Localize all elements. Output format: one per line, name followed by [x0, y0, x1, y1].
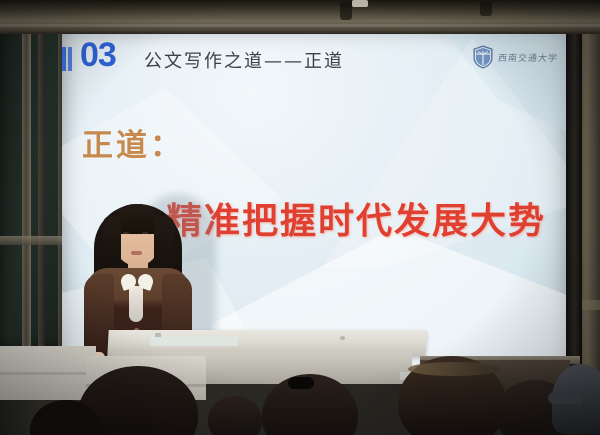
slide-header: 03 公文写作之道——正道 西南交通大学	[62, 28, 568, 88]
chalkboard-frame-left	[22, 16, 31, 352]
presenter-eye-right	[142, 232, 148, 234]
slide-lead-label: 正道：	[82, 120, 184, 165]
section-marker-square	[62, 47, 66, 71]
cap-brim	[548, 392, 582, 404]
track-highlight	[352, 0, 368, 7]
ceiling-track-line	[0, 24, 600, 27]
track-clip	[480, 2, 492, 16]
side-desk-left-edge	[0, 372, 96, 375]
presenter-eye-left	[123, 232, 129, 234]
section-number: 03	[80, 36, 116, 75]
presenter-mouth	[131, 251, 142, 255]
chalkboard-ledge	[0, 236, 66, 245]
slide-header-title: 公文写作之道——正道	[144, 47, 344, 73]
slide-headline: 精准把握时代发展大势	[166, 192, 546, 244]
section-marker-bar	[68, 47, 72, 71]
audience-headband	[408, 362, 500, 376]
chalkboard-frame-mid	[38, 16, 45, 352]
lectern-mark	[155, 333, 161, 337]
track-clip	[340, 2, 352, 20]
lectern-tray	[150, 336, 238, 346]
audience-hair-tie	[288, 377, 314, 389]
university-logo-text: 西南交通大学	[497, 51, 558, 64]
university-logo: 西南交通大学	[472, 45, 558, 69]
lectern-knob	[340, 336, 345, 340]
lecture-photo: 03 公文写作之道——正道 西南交通大学 正道： 精准把握时代发展大势	[0, 0, 600, 435]
screen-right-frame	[566, 28, 582, 378]
ceiling-track	[0, 0, 600, 34]
presenter-bow	[121, 272, 153, 292]
shield-icon	[472, 45, 494, 69]
